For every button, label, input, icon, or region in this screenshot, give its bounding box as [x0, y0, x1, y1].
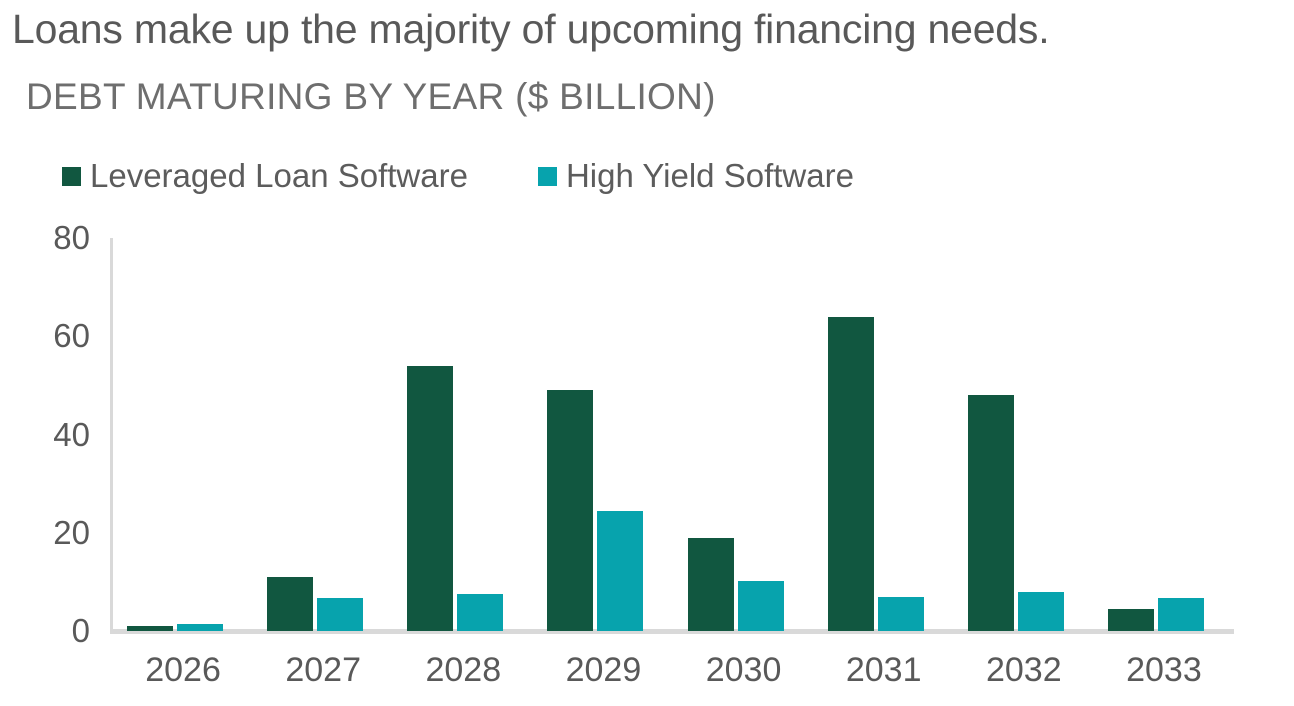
x-axis-tick-labels: 20262027202820292030203120322033 — [113, 648, 1234, 698]
bar-group — [814, 238, 954, 631]
bar[interactable] — [828, 317, 874, 631]
bar-group — [393, 238, 533, 631]
x-axis-tick-label: 2030 — [674, 648, 814, 692]
bar-group — [253, 238, 393, 631]
bar[interactable] — [127, 626, 173, 631]
bar[interactable] — [1158, 598, 1204, 631]
x-axis-tick-label: 2028 — [393, 648, 533, 692]
y-axis-tick-label: 20 — [53, 516, 90, 549]
bar[interactable] — [457, 594, 503, 631]
x-axis-tick-label: 2029 — [533, 648, 673, 692]
bar[interactable] — [878, 597, 924, 631]
y-axis-tick-label: 40 — [53, 418, 90, 451]
chart-page: Loans make up the majority of upcoming f… — [0, 0, 1294, 706]
bar[interactable] — [317, 598, 363, 631]
bar-group — [533, 238, 673, 631]
bar-groups — [113, 238, 1234, 631]
bar[interactable] — [597, 511, 643, 631]
bar[interactable] — [1018, 592, 1064, 631]
bar[interactable] — [968, 395, 1014, 631]
bar-group — [113, 238, 253, 631]
x-axis-tick-label: 2033 — [1094, 648, 1234, 692]
x-axis-tick-label: 2026 — [113, 648, 253, 692]
y-axis-tick-label: 80 — [53, 221, 90, 254]
y-axis-tick-label: 60 — [53, 319, 90, 352]
bar-group — [674, 238, 814, 631]
bar[interactable] — [177, 624, 223, 631]
x-axis-tick-label: 2031 — [814, 648, 954, 692]
bar[interactable] — [267, 577, 313, 631]
bar[interactable] — [688, 538, 734, 631]
plot-area: 020406080 202620272028202920302031203220… — [0, 0, 1294, 706]
bar[interactable] — [547, 390, 593, 631]
bar[interactable] — [1108, 609, 1154, 631]
bar-group — [954, 238, 1094, 631]
bar[interactable] — [738, 581, 784, 631]
x-axis-tick-label: 2032 — [954, 648, 1094, 692]
x-axis-tick-label: 2027 — [253, 648, 393, 692]
y-axis-tick-label: 0 — [72, 614, 90, 647]
bar[interactable] — [407, 366, 453, 631]
y-axis-tick-labels: 020406080 — [0, 0, 96, 706]
bar-group — [1094, 238, 1234, 631]
